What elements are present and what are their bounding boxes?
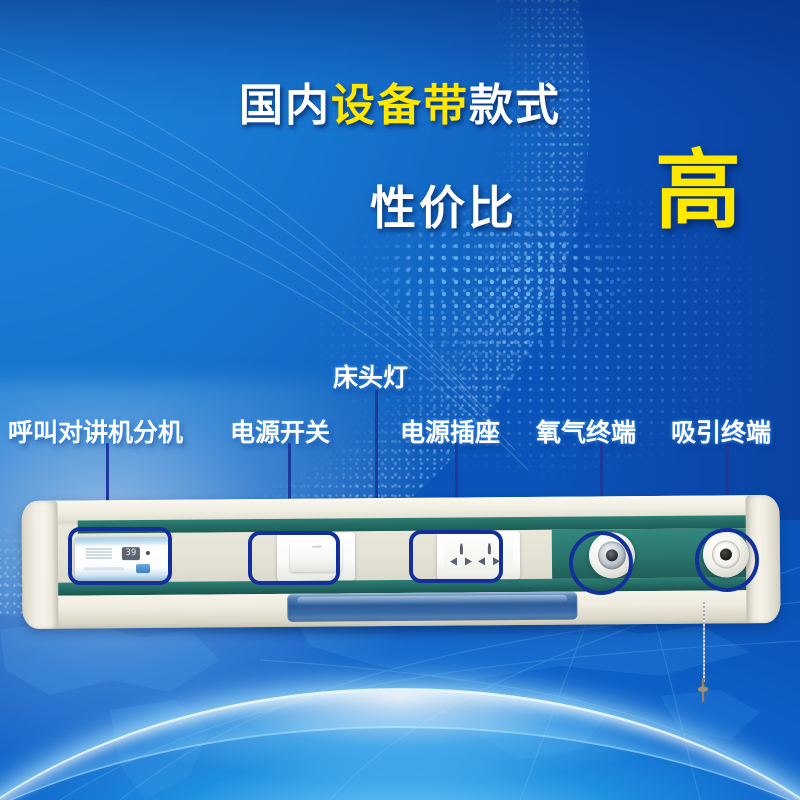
bed-lamp-diffuser[interactable] <box>287 592 577 622</box>
pull-chain[interactable] <box>703 600 705 682</box>
unit-left-end-cap <box>22 501 59 629</box>
highlight-circle-oxygen <box>569 531 633 595</box>
headline-line-1: 国内设备带款式 <box>0 84 800 128</box>
callout-label-power-switch: 电源开关 <box>230 413 330 449</box>
callout-label-bed-lamp: 床头灯 <box>333 358 408 394</box>
headline-block: 国内设备带款式 <box>0 84 800 128</box>
headline-prefix: 国内 <box>239 80 331 131</box>
callout-label-oxygen: 氧气终端 <box>536 413 636 449</box>
callout-label-power-socket: 电源插座 <box>400 413 500 449</box>
callout-label-suction: 吸引终端 <box>671 413 771 449</box>
lamp-gloss-highlight <box>297 595 567 605</box>
headline-line-2: 性价比 <box>370 172 517 238</box>
headline-emphasis-gao: 高 <box>655 148 741 234</box>
highlight-box-power-switch <box>248 531 340 585</box>
highlight-box-intercom <box>68 527 172 585</box>
callout-label-intercom: 呼叫对讲机分机 <box>8 413 183 449</box>
product-banner: 国内设备带款式 性价比 高 呼叫对讲机分机 电源开关 床头灯 电源插座 氧气终端… <box>0 0 800 800</box>
highlight-circle-suction <box>695 528 759 592</box>
pull-chain-handle-icon[interactable] <box>693 678 713 704</box>
headline-suffix: 款式 <box>469 80 561 131</box>
highlight-box-power-socket <box>409 530 503 583</box>
headline-highlight: 设备带 <box>331 80 469 131</box>
